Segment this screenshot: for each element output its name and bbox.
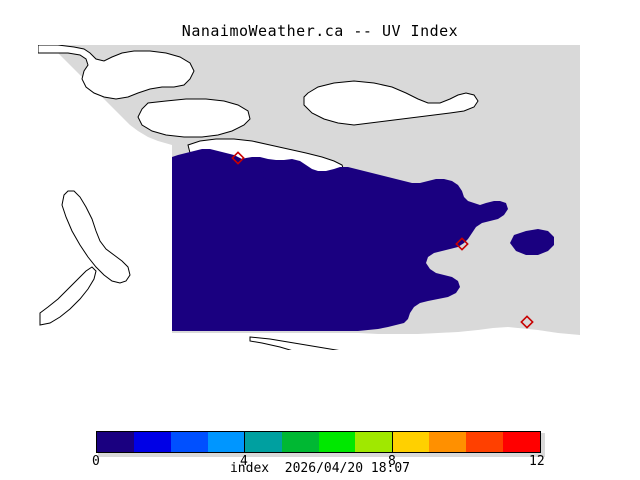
colorbar-segment-6: [319, 432, 356, 452]
colorbar-segment-0: [97, 432, 134, 452]
colorbar-segment-5: [282, 432, 319, 452]
colorbar-shadow-bottom: [98, 453, 545, 457]
colorbar: 0 4 8 12: [96, 431, 541, 453]
colorbar-segment-2: [171, 432, 208, 452]
colorbar-segment-8: [392, 432, 429, 452]
map-plot-area: [38, 45, 580, 350]
page-title: NanaimoWeather.ca -- UV Index: [0, 22, 640, 40]
colorbar-tick-8: [392, 431, 393, 453]
colorbar-segment-4: [245, 432, 282, 452]
colorbar-segments: [96, 431, 541, 453]
uv-index-map-page: NanaimoWeather.ca -- UV Index: [0, 0, 640, 480]
colorbar-segment-1: [134, 432, 171, 452]
colorbar-tick-4: [244, 431, 245, 453]
colorbar-segment-3: [208, 432, 245, 452]
colorbar-segment-7: [355, 432, 392, 452]
colorbar-caption: index 2026/04/20 18:07: [0, 461, 640, 476]
colorbar-segment-9: [429, 432, 466, 452]
colorbar-segment-11: [503, 432, 540, 452]
map-canvas: [38, 45, 580, 350]
colorbar-shadow-right: [541, 433, 545, 455]
colorbar-segment-10: [466, 432, 503, 452]
